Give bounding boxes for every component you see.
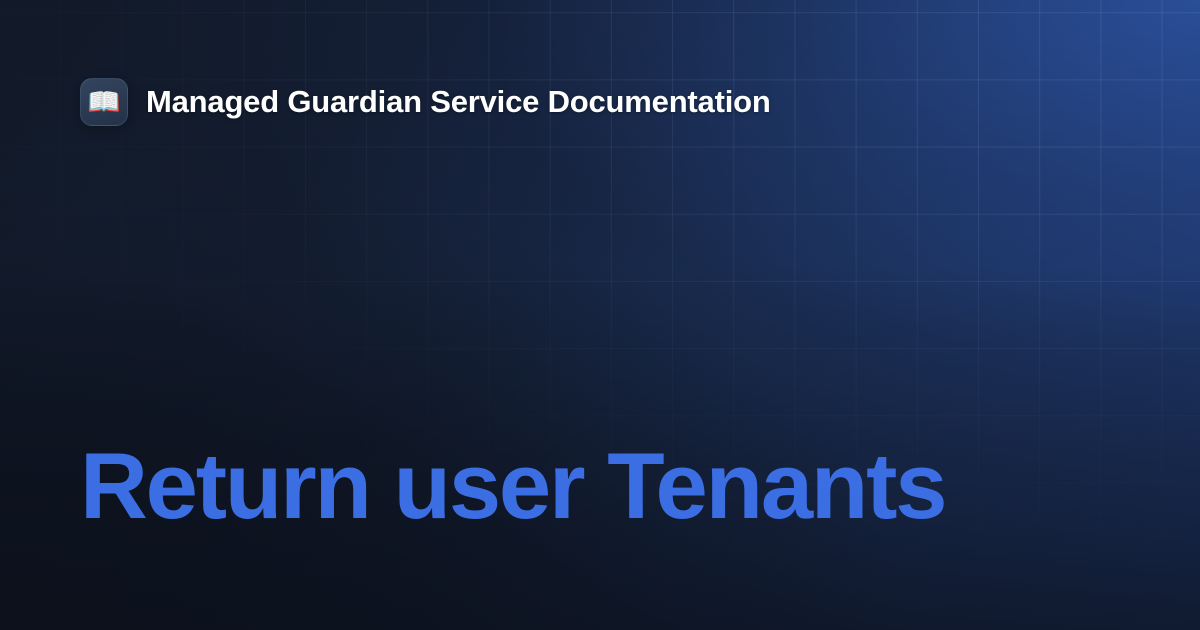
og-social-card: 📖 Managed Guardian Service Documentation… [0,0,1200,630]
open-book-icon: 📖 [80,78,128,126]
site-title: Managed Guardian Service Documentation [146,84,771,120]
brand-header: 📖 Managed Guardian Service Documentation [80,78,1120,126]
page-title: Return user Tenants [80,438,945,534]
open-book-glyph: 📖 [87,89,121,116]
card-content: 📖 Managed Guardian Service Documentation… [0,0,1200,630]
headline-container: Return user Tenants [80,438,1120,556]
